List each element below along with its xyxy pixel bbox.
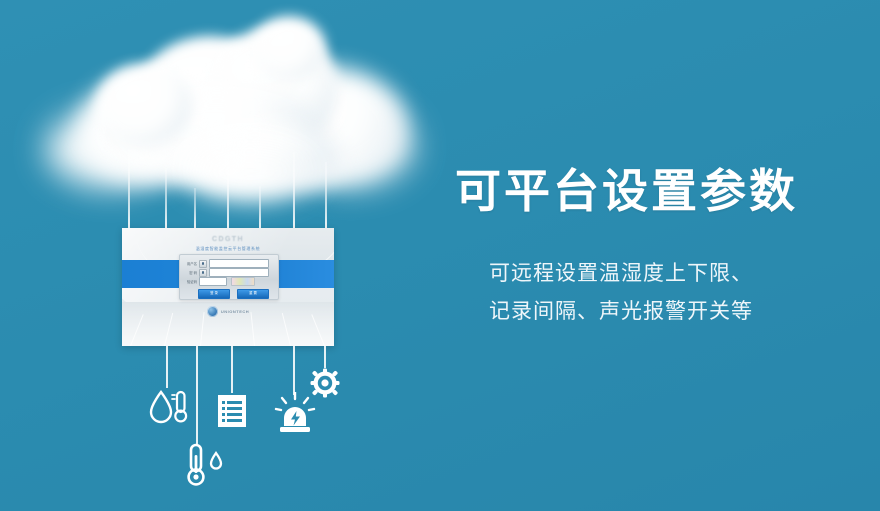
captcha-label: 验证码 <box>184 279 197 284</box>
username-input[interactable] <box>209 259 269 268</box>
cloud-graphic <box>40 14 410 204</box>
password-label: 密 码 <box>184 270 197 275</box>
brand-name: UNIONTECH <box>221 309 249 314</box>
hanging-line-lower <box>324 346 326 368</box>
username-label: 用户名 <box>184 261 197 266</box>
lock-icon <box>199 269 207 277</box>
record-list-icon <box>216 393 248 429</box>
password-input[interactable] <box>209 268 269 277</box>
alarm-siren-icon <box>272 392 318 436</box>
gear-settings-icon <box>310 368 340 398</box>
thermometer-drop-icon <box>185 443 229 491</box>
login-button[interactable]: 登 录 <box>198 289 230 299</box>
hanging-line <box>165 168 167 228</box>
captcha-image[interactable] <box>231 277 255 286</box>
subtitle-line-2: 记录间隔、声光报警开关等 <box>489 293 829 331</box>
captcha-input[interactable] <box>199 277 227 286</box>
page-title: 可平台设置参数 <box>455 155 798 221</box>
hanging-line <box>194 188 196 228</box>
hanging-line-lower <box>166 346 168 388</box>
hanging-line <box>325 162 327 228</box>
humidity-temperature-icon <box>147 388 191 428</box>
hanging-line-lower <box>231 346 233 393</box>
hanging-line <box>128 150 130 228</box>
promo-banner: CDGTH 温湿度智能监控云平台管理系统 用户名 密 码 验证 <box>0 0 880 511</box>
hanging-line <box>259 186 261 228</box>
hanging-line <box>293 152 295 228</box>
brand-badge-icon <box>207 306 218 317</box>
hanging-line <box>227 160 229 228</box>
subtitle-block: 可远程设置温湿度上下限、 记录间隔、声光报警开关等 <box>489 255 829 331</box>
subtitle-line-1: 可远程设置温湿度上下限、 <box>489 255 829 293</box>
user-icon <box>199 260 207 268</box>
reset-button[interactable]: 重 置 <box>237 289 269 299</box>
screen-logo-text: CDGTH <box>122 236 334 243</box>
screen-subtitle-text: 温湿度智能监控云平台管理系统 <box>122 246 334 252</box>
hanging-line-lower <box>293 346 295 395</box>
login-form[interactable]: 用户名 密 码 验证码 登 录 重 置 <box>179 254 279 300</box>
screen-footer-brand: UNIONTECH <box>122 306 334 317</box>
device-screen: CDGTH 温湿度智能监控云平台管理系统 用户名 密 码 验证 <box>122 228 334 346</box>
hanging-line-lower <box>196 346 198 445</box>
